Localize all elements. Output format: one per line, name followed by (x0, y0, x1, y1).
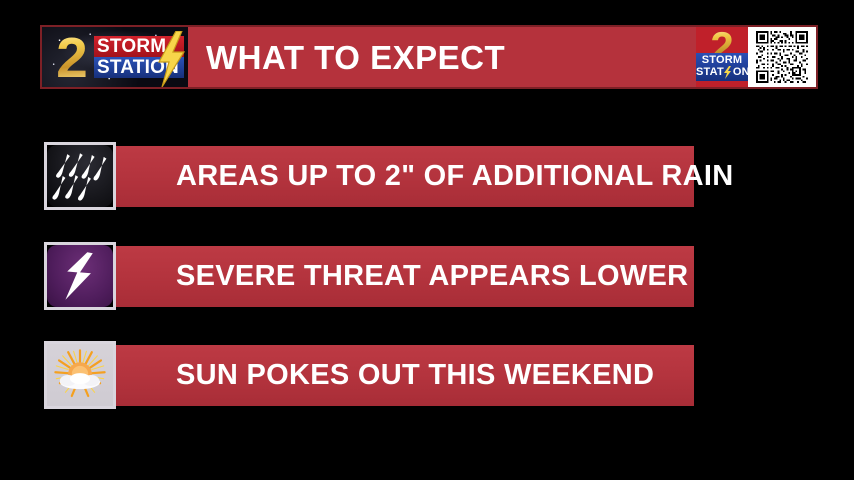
sun-cloud-glyph (47, 344, 113, 406)
station-logo-left[interactable]: 2 STORM STATION (42, 27, 188, 87)
header-title: WHAT TO EXPECT (188, 27, 696, 87)
qr-code-matrix (752, 31, 812, 83)
weather-graphic-stage: 2 STORM STATION WHAT TO EXPECT 2 STORM S… (0, 0, 854, 480)
header-banner: 2 STORM STATION WHAT TO EXPECT 2 STORM S… (40, 25, 818, 89)
rain-streaks-glyph (47, 145, 113, 207)
bullet-label: AREAS UP TO 2" OF ADDITIONAL RAIN (176, 162, 734, 191)
sun-behind-cloud-icon (44, 341, 116, 409)
bullet-bar: SUN POKES OUT THIS WEEKEND (116, 345, 694, 406)
lightning-bolt-icon (723, 66, 732, 79)
lightning-bolt-icon (154, 31, 188, 87)
logo-right-line-station: STATON (696, 66, 748, 79)
lightning-bolt-glyph (47, 245, 113, 307)
lightning-bolt-icon (44, 242, 116, 310)
bullet-bar: SEVERE THREAT APPEARS LOWER (116, 246, 694, 307)
channel-number-left: 2 (46, 29, 98, 87)
cloud-shape (60, 373, 100, 389)
qr-code-icon[interactable] (748, 27, 816, 87)
bullet-bar: AREAS UP TO 2" OF ADDITIONAL RAIN (116, 146, 694, 207)
heavy-rain-icon (44, 142, 116, 210)
bullet-label: SUN POKES OUT THIS WEEKEND (176, 361, 654, 390)
logo-right-wordmark: STORM STATON (696, 53, 748, 81)
bullet-label: SEVERE THREAT APPEARS LOWER (176, 262, 688, 291)
logo-right-line-storm: STORM (696, 54, 748, 66)
logo-right-station-prefix: STAT (696, 66, 724, 78)
header-right-cluster: 2 STORM STATON (696, 27, 816, 87)
station-logo-right[interactable]: 2 STORM STATON (696, 27, 748, 87)
